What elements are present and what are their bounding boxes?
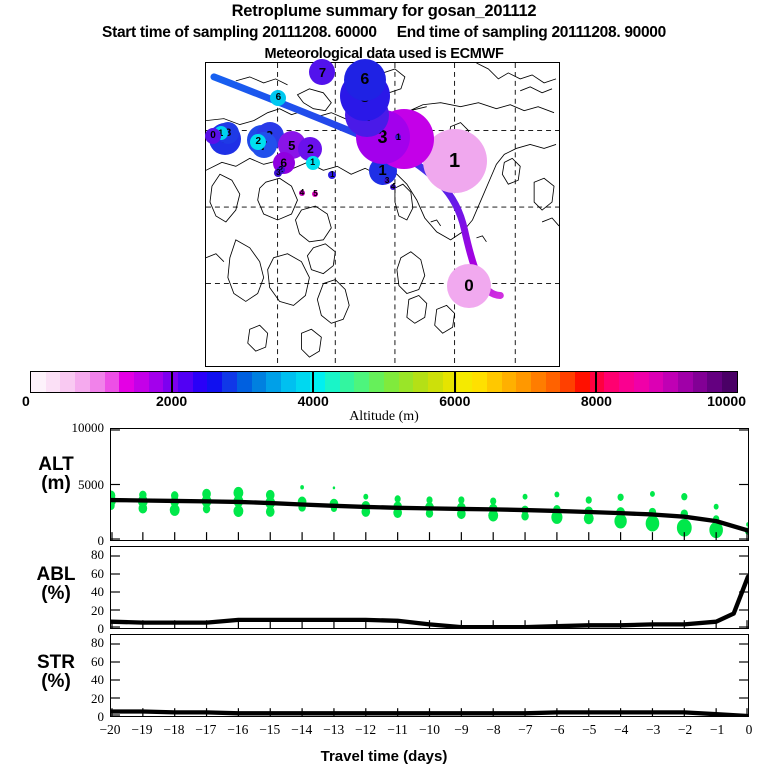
alt-scatter-point-24 <box>363 494 368 500</box>
str-ytick-60: 60 <box>40 654 104 670</box>
colorbar-swatch-17 <box>281 372 296 392</box>
xtick-label--4: −4 <box>614 722 628 738</box>
colorbar-swatch-12 <box>207 372 222 392</box>
colorbar-separator-1 <box>312 371 314 393</box>
alt-scatter-point-51 <box>650 491 655 497</box>
colorbar-swatch-15 <box>252 372 267 392</box>
alt-scatter-point-57 <box>714 504 719 510</box>
colorbar-swatch-14 <box>237 372 252 392</box>
alt-scatter-points <box>111 485 748 538</box>
map-bubble-day-1-21: 1 <box>306 156 320 170</box>
meteo-source-line: Meteorological data used is ECMWF <box>0 46 768 62</box>
colorbar-swatch-45 <box>693 372 708 392</box>
colorbar-swatch-20 <box>325 372 340 392</box>
colorbar-swatch-36 <box>560 372 575 392</box>
colorbar-swatch-40 <box>619 372 634 392</box>
colorbar-label-4: 8000 <box>581 393 612 409</box>
colorbar-swatch-23 <box>369 372 384 392</box>
str-ytick-80: 80 <box>40 635 104 651</box>
xtick-label--12: −12 <box>355 722 376 738</box>
colorbar-swatch-30 <box>472 372 487 392</box>
map-bubble-day-4-28: 4 <box>390 184 396 190</box>
abl-ytick-80: 80 <box>40 547 104 563</box>
alt-scatter-point-54 <box>681 493 687 500</box>
colorbar-swatch-29 <box>457 372 472 392</box>
map-bubble-day-3-27: 3 <box>384 178 390 184</box>
xtick-label--10: −10 <box>419 722 440 738</box>
xtick-label--11: −11 <box>387 722 408 738</box>
xtick-label--3: −3 <box>646 722 660 738</box>
alt-scatter-point-45 <box>586 496 592 503</box>
colorbar-swatch-43 <box>663 372 678 392</box>
colorbar-swatch-24 <box>384 372 399 392</box>
colorbar-swatch-13 <box>222 372 237 392</box>
colorbar-label-5: 10000 <box>707 393 746 409</box>
colorbar-swatch-34 <box>531 372 546 392</box>
colorbar-swatch-8 <box>149 372 164 392</box>
abl-line <box>111 577 748 627</box>
colorbar-separator-2 <box>454 371 456 393</box>
alt-ytick-5000: 5000 <box>40 477 104 493</box>
alt-plot <box>111 429 748 540</box>
alt-scatter-point-41 <box>521 512 528 521</box>
sampling-time-line: Start time of sampling 20111208. 60000 E… <box>0 24 768 42</box>
colorbar-swatch-27 <box>428 372 443 392</box>
page-title: Retroplume summary for gosan_201112 <box>0 2 768 21</box>
xtick-label--16: −16 <box>227 722 248 738</box>
xtick-label--5: −5 <box>582 722 596 738</box>
colorbar-swatch-3 <box>75 372 90 392</box>
str-ytick-20: 20 <box>40 691 104 707</box>
str-ytick-0: 0 <box>40 709 104 725</box>
str-ytick-40: 40 <box>40 672 104 688</box>
colorbar-swatch-41 <box>634 372 649 392</box>
colorbar-swatch-33 <box>516 372 531 392</box>
alt-scatter-point-18 <box>300 485 304 489</box>
map-bubble-day-0-0: 0 <box>447 264 491 308</box>
abl-timeseries-panel[interactable] <box>110 546 749 629</box>
retroplume-map[interactable]: 011234567623725269810112345341 <box>205 62 560 367</box>
colorbar-swatch-39 <box>604 372 619 392</box>
colorbar-swatch-4 <box>90 372 105 392</box>
xtick-label--20: −20 <box>99 722 120 738</box>
colorbar-label-0: 0 <box>22 393 30 409</box>
map-bubble-day-4-25: 4 <box>299 190 305 196</box>
colorbar-swatch-31 <box>487 372 502 392</box>
colorbar-swatch-7 <box>134 372 149 392</box>
xtick-label--6: −6 <box>550 722 564 738</box>
xtick-label-0: 0 <box>746 722 753 738</box>
xtick-label--8: −8 <box>486 722 500 738</box>
alt-scatter-point-5 <box>139 503 148 513</box>
map-bubble-day-2-13: 2 <box>250 134 266 150</box>
colorbar-swatch-42 <box>649 372 664 392</box>
alt-scatter-point-53 <box>646 515 660 531</box>
map-bubble-day-0-20: 0 <box>205 128 221 144</box>
colorbar-swatch-47 <box>722 372 737 392</box>
alt-scatter-point-48 <box>618 494 624 501</box>
alt-scatter-point-39 <box>523 494 528 500</box>
abl-ytick-40: 40 <box>40 584 104 600</box>
abl-y-ticks <box>111 556 748 627</box>
colorbar-swatch-0 <box>31 372 46 392</box>
colorbar-swatch-37 <box>575 372 590 392</box>
colorbar-separator-0 <box>171 371 173 393</box>
alt-scatter-point-36 <box>490 497 496 504</box>
map-bubble-day-6-9: 6 <box>270 90 286 106</box>
xtick-label--17: −17 <box>195 722 216 738</box>
colorbar-swatch-18 <box>296 372 311 392</box>
alt-x-ticks <box>112 532 747 540</box>
colorbar-swatch-5 <box>105 372 120 392</box>
colorbar-label-3: 6000 <box>439 393 470 409</box>
colorbar-swatch-21 <box>340 372 355 392</box>
alt-scatter-point-60 <box>746 522 748 526</box>
colorbar-swatch-25 <box>399 372 414 392</box>
colorbar-separator-3 <box>595 371 597 393</box>
xtick-label--19: −19 <box>131 722 152 738</box>
colorbar-title: Altitude (m) <box>0 409 768 425</box>
alt-scatter-point-21 <box>333 486 335 489</box>
alt-scatter-point-33 <box>458 496 464 503</box>
colorbar-swatch-16 <box>266 372 281 392</box>
str-timeseries-panel[interactable] <box>110 634 749 717</box>
abl-ytick-60: 60 <box>40 566 104 582</box>
x-axis-title: Travel time (days) <box>0 748 768 765</box>
map-bubble-day-1-29: 1 <box>395 134 401 140</box>
alt-scatter-point-11 <box>203 504 210 513</box>
alt-scatter-point-42 <box>554 492 559 498</box>
map-bubble-day-6-7: 6 <box>344 59 386 101</box>
xtick-label--9: −9 <box>454 722 468 738</box>
colorbar-gradient <box>30 371 738 393</box>
alt-ytick-10000: 10000 <box>40 420 104 436</box>
alt-timeseries-panel[interactable] <box>110 428 749 541</box>
alt-scatter-point-8 <box>170 504 180 516</box>
alt-scatter-point-17 <box>266 507 275 517</box>
colorbar-swatch-2 <box>60 372 75 392</box>
colorbar-swatch-46 <box>707 372 722 392</box>
str-plot <box>111 635 748 716</box>
xtick-label--14: −14 <box>291 722 312 738</box>
colorbar-label-1: 2000 <box>156 393 187 409</box>
xtick-label--13: −13 <box>323 722 344 738</box>
xtick-label--1: −1 <box>710 722 724 738</box>
abl-plot <box>111 547 748 628</box>
map-bubble-day-7-8: 7 <box>309 59 335 85</box>
colorbar-swatch-35 <box>546 372 561 392</box>
alt-scatter-point-50 <box>614 514 626 529</box>
xtick-label--18: −18 <box>163 722 184 738</box>
colorbar-swatch-22 <box>354 372 369 392</box>
colorbar-swatch-44 <box>678 372 693 392</box>
colorbar-swatch-26 <box>413 372 428 392</box>
alt-scatter-point-27 <box>395 495 401 502</box>
altitude-colorbar[interactable] <box>30 371 738 393</box>
abl-ytick-20: 20 <box>40 603 104 619</box>
map-bubble-day-5-26: 5 <box>312 191 318 197</box>
colorbar-swatch-11 <box>193 372 208 392</box>
xtick-label--7: −7 <box>518 722 532 738</box>
map-bubble-day-1-22: 1 <box>328 171 336 179</box>
str-y-ticks <box>111 644 748 715</box>
colorbar-label-2: 4000 <box>298 393 329 409</box>
colorbar-swatch-6 <box>119 372 134 392</box>
colorbar-swatch-10 <box>178 372 193 392</box>
colorbar-swatch-1 <box>46 372 61 392</box>
xtick-label--2: −2 <box>678 722 692 738</box>
alt-scatter-point-14 <box>233 505 243 517</box>
xtick-label--15: −15 <box>259 722 280 738</box>
map-bubble-day-3-24: 3 <box>274 169 282 177</box>
colorbar-swatch-32 <box>502 372 517 392</box>
